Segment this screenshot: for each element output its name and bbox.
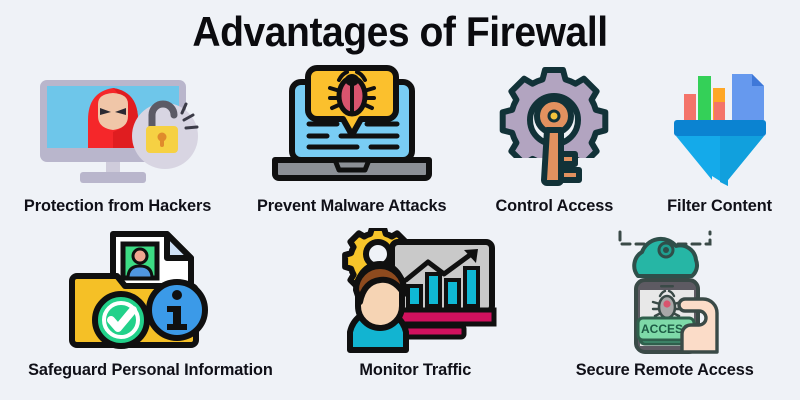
advantage-label: Prevent Malware Attacks [257, 196, 446, 216]
advantage-item-monitor-traffic[interactable]: Monitor Traffic [300, 228, 530, 380]
advantage-label: Control Access [495, 196, 613, 216]
advantage-item-control-access[interactable]: Control Access [468, 58, 640, 216]
advantage-label: Protection from Hackers [24, 196, 211, 216]
laptop-malware-bug-icon [257, 58, 447, 190]
advantage-item-protection-from-hackers[interactable]: Protection from Hackers [0, 58, 236, 216]
advantage-label: Safeguard Personal Information [28, 360, 273, 380]
advantages-row-2: Safeguard Personal Information [0, 228, 800, 380]
advantage-item-prevent-malware-attacks[interactable]: Prevent Malware Attacks [236, 58, 468, 216]
advantage-label: Monitor Traffic [359, 360, 471, 380]
advantage-item-filter-content[interactable]: Filter Content [640, 58, 800, 216]
person-monitor-chart-gear-icon [328, 228, 503, 354]
hacker-monitor-padlock-icon [18, 58, 218, 190]
advantage-label: Secure Remote Access [576, 360, 754, 380]
gear-key-icon [489, 58, 619, 190]
advantage-item-safeguard-personal-information[interactable]: Safeguard Personal Information [0, 228, 300, 380]
advantage-item-secure-remote-access[interactable]: ACCESS Secure Remote Access [530, 228, 800, 380]
folder-id-check-info-icon [55, 228, 245, 354]
advantages-row-1: Protection from Hackers [0, 58, 800, 216]
advantage-label: Filter Content [668, 196, 773, 216]
infographic-root: Advantages of Firewall [0, 0, 800, 400]
cloud-phone-access-hand-icon: ACCESS [590, 228, 740, 354]
funnel-filter-icon [660, 58, 780, 190]
page-title: Advantages of Firewall [28, 6, 772, 58]
